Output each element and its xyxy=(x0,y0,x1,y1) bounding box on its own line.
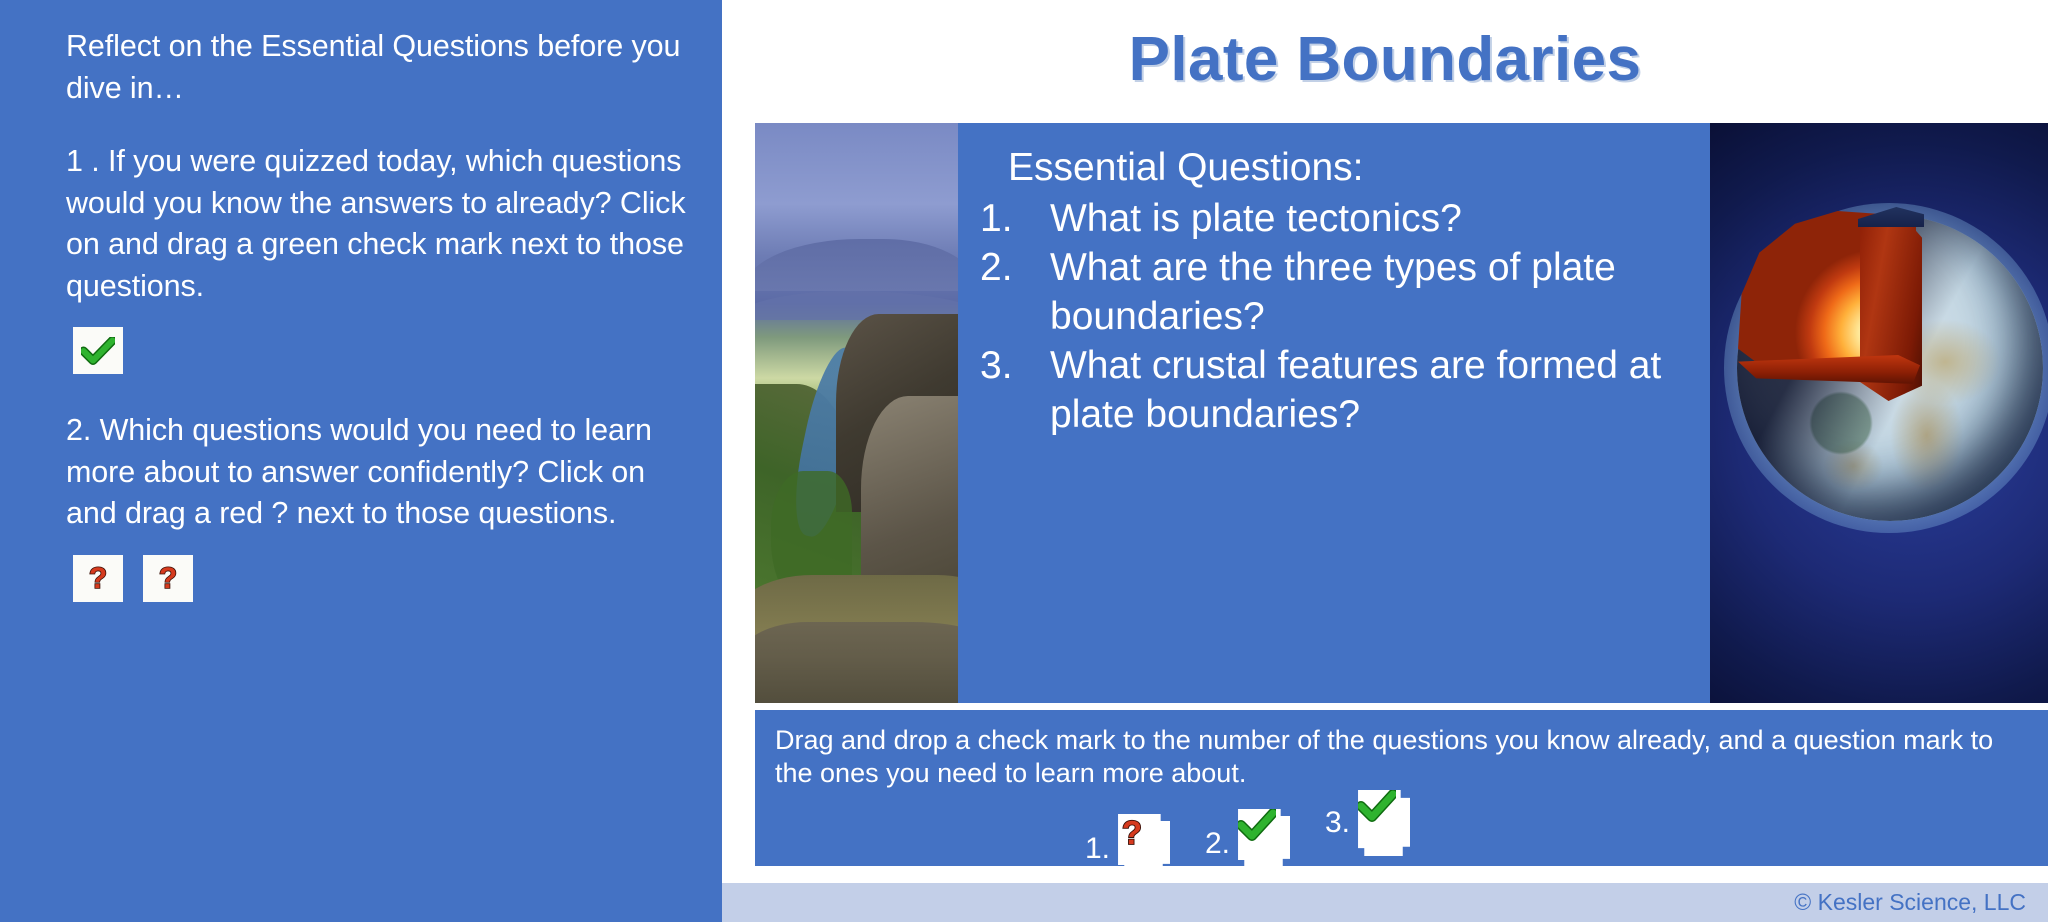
question-number: 2. xyxy=(980,243,1050,341)
spacer xyxy=(66,109,688,141)
spacer xyxy=(66,374,688,410)
dropped-check-token[interactable] xyxy=(1358,790,1410,856)
photo-detail xyxy=(755,622,958,703)
essential-questions-panel: Essential Questions: 1. What is plate te… xyxy=(958,123,1710,703)
drop-slot-number: 1. xyxy=(1085,832,1110,872)
drop-target-row: 1. ? 2. xyxy=(755,802,2048,866)
drop-slot-2[interactable]: 2. xyxy=(1205,809,1290,867)
green-check-token-group xyxy=(73,327,688,374)
spacer xyxy=(66,535,688,555)
essential-question-item: 1. What is plate tectonics? xyxy=(980,194,1688,243)
red-question-token[interactable]: ? xyxy=(143,555,193,602)
red-question-mark-icon: ? xyxy=(143,555,193,602)
sidebar-prompt-two-text: 2. Which questions would you need to lea… xyxy=(66,410,688,535)
drop-slot-3[interactable]: 3. xyxy=(1325,790,1410,856)
earth-cutaway-image xyxy=(1710,123,2048,703)
essential-question-item: 3. What crustal features are formed at p… xyxy=(980,341,1688,439)
drop-slot-number: 2. xyxy=(1205,827,1230,867)
instruction-text: Drag and drop a check mark to the number… xyxy=(775,724,2015,790)
dropped-check-token[interactable] xyxy=(1238,809,1290,867)
red-question-mark-icon: ? xyxy=(73,555,123,602)
question-text: What is plate tectonics? xyxy=(1050,194,1688,243)
drop-slot-number: 3. xyxy=(1325,806,1350,856)
rift-valley-photo xyxy=(755,123,958,703)
title-bar: Plate Boundaries xyxy=(722,0,2048,118)
drop-slot-1[interactable]: 1. ? xyxy=(1085,814,1170,872)
content-strip: Essential Questions: 1. What is plate te… xyxy=(755,123,2048,703)
green-check-icon xyxy=(1238,809,1290,841)
svg-text:?: ? xyxy=(1122,814,1142,851)
green-check-icon xyxy=(1358,790,1410,822)
essential-question-item: 2. What are the three types of plate bou… xyxy=(980,243,1688,341)
question-text: What crustal features are formed at plat… xyxy=(1050,341,1688,439)
question-text: What are the three types of plate bounda… xyxy=(1050,243,1688,341)
photo-detail xyxy=(755,239,958,291)
slide-main-area: Plate Boundaries Essential Questions: 1.… xyxy=(722,0,2048,922)
svg-text:?: ? xyxy=(89,562,107,595)
red-question-mark-icon: ? xyxy=(1118,814,1170,852)
green-check-icon xyxy=(73,327,123,374)
sidebar-intro-text: Reflect on the Essential Questions befor… xyxy=(66,26,688,109)
svg-text:?: ? xyxy=(159,562,177,595)
footer-bar: © Kesler Science, LLC xyxy=(722,883,2048,922)
question-number: 1. xyxy=(980,194,1050,243)
red-question-token-group: ? ? xyxy=(73,555,688,602)
copyright-text: © Kesler Science, LLC xyxy=(1794,889,2026,916)
essential-questions-heading: Essential Questions: xyxy=(980,143,1688,192)
sidebar-prompt-one-text: 1 . If you were quizzed today, which que… xyxy=(66,141,688,307)
question-number: 3. xyxy=(980,341,1050,439)
page-title: Plate Boundaries xyxy=(1129,24,1642,95)
red-question-token[interactable]: ? xyxy=(73,555,123,602)
spacer xyxy=(66,307,688,327)
instruction-bar: Drag and drop a check mark to the number… xyxy=(755,710,2048,866)
reflection-sidebar: Reflect on the Essential Questions befor… xyxy=(0,0,722,922)
dropped-question-token[interactable]: ? xyxy=(1118,814,1170,872)
green-check-token[interactable] xyxy=(73,327,123,374)
